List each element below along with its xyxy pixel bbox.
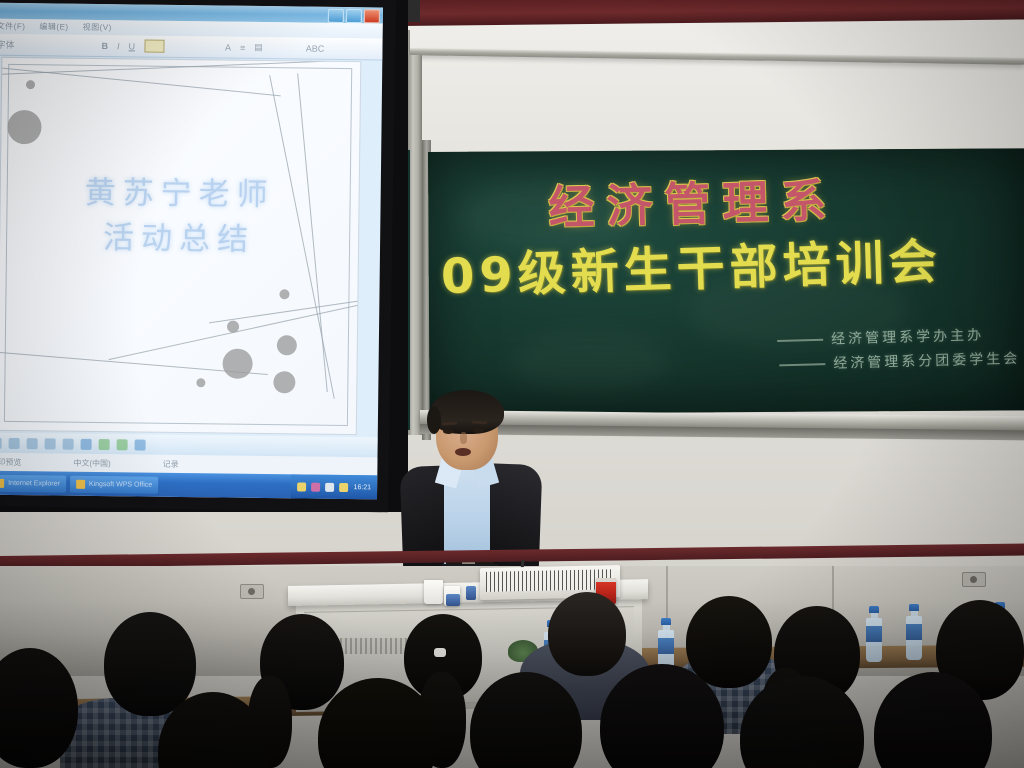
tray-pen-icon[interactable]: [312, 482, 321, 491]
status-language: 中文(中国): [73, 457, 110, 468]
blackboard-subheadline: 09级新生干部培训会: [440, 219, 1022, 307]
slide-title: 黄苏宁老师活动总结: [0, 170, 359, 264]
taskbar-label-office: Kingsoft WPS Office: [89, 480, 152, 488]
audience-head: [548, 592, 626, 676]
system-tray[interactable]: 16:21: [291, 474, 377, 499]
browser-icon: [0, 478, 4, 487]
bottle-label: [906, 624, 922, 640]
bottle-label: [658, 638, 674, 654]
credit-text-2: 经济管理系分团委学生会: [833, 351, 1020, 372]
wall-outlet: [240, 584, 264, 599]
bottle-body: [906, 616, 922, 660]
formatting-toolbar[interactable]: 字体 B I U A ≡ ▤ ABC: [0, 34, 383, 61]
presenter-eye-right: [473, 428, 484, 433]
menu-item-edit[interactable]: 编辑(E): [39, 21, 68, 32]
presenter-nose: [460, 432, 467, 444]
taskbar-button-office[interactable]: Kingsoft WPS Office: [70, 475, 158, 493]
bullet-list-icon[interactable]: ▤: [254, 42, 263, 53]
lecture-hall-scene: 经济管理系 09级新生干部培训会 经济管理系学办主办 经济管理系分团委学生会: [0, 0, 1024, 768]
blue-box-2: [466, 586, 476, 600]
presenter-eye-left: [443, 429, 454, 434]
presenter-hair: [430, 390, 504, 434]
bottle-cap: [661, 618, 671, 625]
windows-taskbar[interactable]: Internet Explorer Kingsoft WPS Office 16…: [0, 471, 377, 500]
credit-dash-icon: [777, 339, 823, 342]
font-name-field[interactable]: 字体: [0, 38, 15, 51]
status-left-text: 打印预览: [0, 456, 21, 467]
close-icon[interactable]: [364, 9, 380, 23]
projection-screen-surface: 文件(F) 编辑(E) 视图(V) 字体 B I U A ≡ ▤ ABC: [0, 3, 383, 500]
chart-icon[interactable]: [99, 439, 110, 450]
align-left-icon[interactable]: ≡: [240, 42, 245, 52]
credit-text-1: 经济管理系学办主办: [831, 327, 984, 347]
blackboard-credit-line-2: 经济管理系分团委学生会: [779, 348, 1020, 375]
font-color-icon[interactable]: [63, 438, 74, 449]
maximize-icon[interactable]: [346, 9, 362, 23]
taskbar-label-ie: Internet Explorer: [8, 479, 60, 487]
menu-item-file[interactable]: 文件(F): [0, 21, 26, 32]
tray-clock: 16:21: [354, 484, 372, 491]
slide-title-line-1: 黄苏宁老师: [84, 175, 274, 213]
wall-outlet: [962, 572, 986, 587]
blackboard-surface: 经济管理系 09级新生干部培训会 经济管理系学办主办 经济管理系分团委学生会: [428, 148, 1024, 414]
tray-ime-icon[interactable]: [340, 482, 349, 491]
hair-clip-icon: [434, 648, 446, 657]
tray-network-icon[interactable]: [326, 482, 335, 491]
water-bottle: [906, 604, 922, 660]
status-right-text: 记录: [163, 458, 179, 469]
bottle-body: [866, 618, 882, 662]
bottle-label: [866, 626, 882, 642]
audience-head: [686, 596, 772, 688]
menu-item-view[interactable]: 视图(V): [83, 22, 112, 33]
paper-cup-1: [424, 580, 443, 604]
decor-dot: [222, 349, 252, 379]
audience-head: [104, 612, 196, 716]
office-icon: [76, 479, 85, 488]
bottle-cap: [869, 606, 879, 613]
bottle-cap: [909, 604, 919, 611]
decor-dot: [279, 289, 289, 299]
blackboard-frame: 经济管理系 09级新生干部培训会 经济管理系学办主办 经济管理系分团委学生会: [428, 148, 1024, 414]
presentation-slide: 黄苏宁老师活动总结: [0, 57, 361, 435]
upper-wall-panel: [392, 20, 1024, 160]
tray-antivirus-icon[interactable]: [298, 482, 307, 491]
underline-icon[interactable]: U: [128, 41, 135, 51]
line-icon[interactable]: [27, 438, 38, 449]
bold-icon[interactable]: B: [101, 41, 108, 51]
shape-icon[interactable]: [0, 437, 2, 448]
board-track-vertical: [408, 55, 422, 435]
pinyin-guide-icon[interactable]: ABC: [306, 43, 325, 53]
text-color-icon[interactable]: A: [225, 42, 231, 52]
arrow-icon[interactable]: [9, 437, 20, 448]
equipment-vent-grille: [486, 569, 614, 592]
minimize-icon[interactable]: [328, 9, 344, 23]
decor-dot: [227, 321, 239, 333]
insert-object-icon[interactable]: [117, 439, 128, 450]
decor-dot: [26, 80, 35, 89]
decor-dot: [277, 335, 297, 355]
credit-dash-icon: [779, 363, 825, 366]
highlight-color-icon[interactable]: [144, 40, 164, 53]
projection-screen-frame: 文件(F) 编辑(E) 视图(V) 字体 B I U A ≡ ▤ ABC: [0, 0, 396, 512]
window-control-buttons[interactable]: [328, 9, 380, 24]
table-icon[interactable]: [81, 438, 92, 449]
blackboard-credit-line-1: 经济管理系学办主办: [777, 324, 984, 350]
decor-dot: [273, 371, 295, 393]
blue-box-1: [446, 594, 460, 606]
presenter-mouth: [455, 448, 471, 456]
decor-dot: [196, 378, 205, 387]
slide-title-line-2: 活动总结: [103, 220, 255, 258]
taskbar-button-ie[interactable]: Internet Explorer: [0, 474, 66, 492]
water-bottle: [866, 606, 882, 662]
italic-icon[interactable]: I: [117, 41, 120, 51]
fill-color-icon[interactable]: [45, 438, 56, 449]
text-box-icon[interactable]: [135, 439, 146, 450]
